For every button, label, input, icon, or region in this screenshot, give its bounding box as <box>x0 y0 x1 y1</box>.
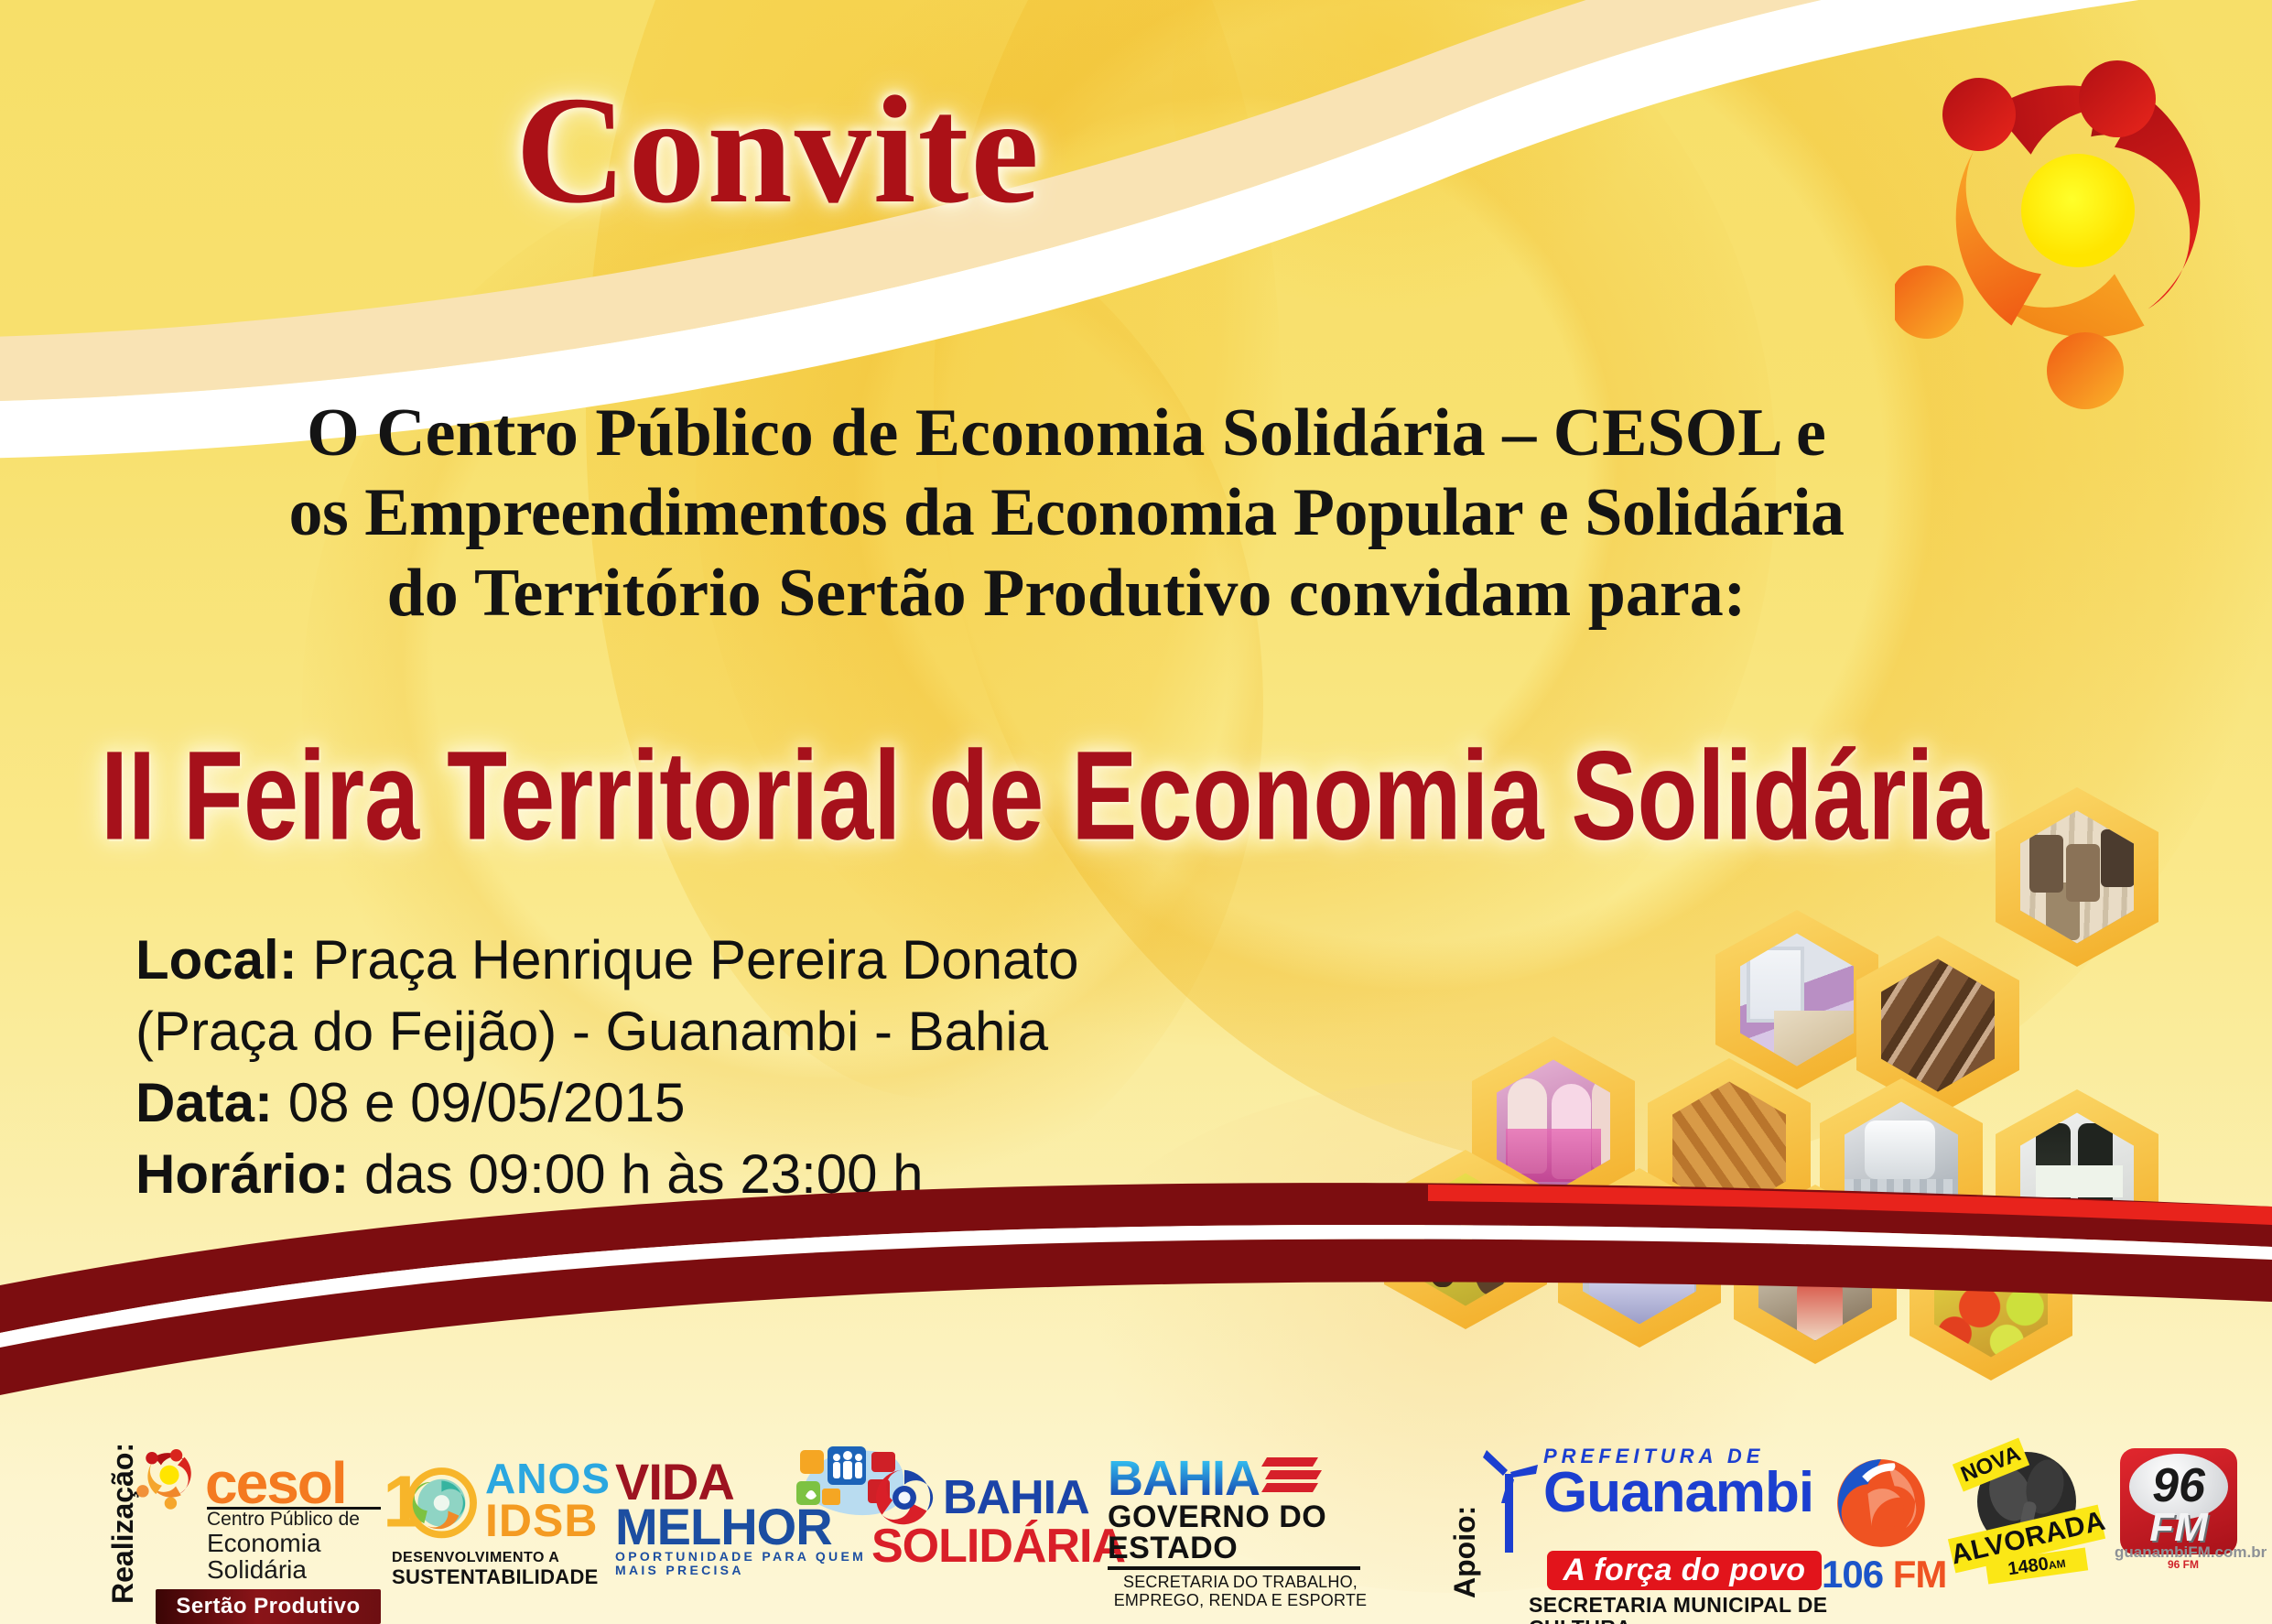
logo-bahia-governo-estado[interactable]: BAHIA GOVERNO DO ESTADO SECRETARIA DO TR… <box>1108 1456 1373 1609</box>
data-value: 08 e 09/05/2015 <box>288 1072 686 1133</box>
bahia-governo-divider <box>1108 1566 1360 1570</box>
svg-text:1: 1 <box>384 1461 424 1543</box>
intro-paragraph: O Centro Público de Economia Solidária –… <box>82 394 2050 633</box>
radio-96-tag: 96 FM <box>2115 1558 2252 1571</box>
detail-data: Data: 08 e 09/05/2015 <box>135 1067 1325 1139</box>
bahia-solidaria-line1: BAHIA <box>943 1477 1089 1520</box>
radio-106-text: 106 FM <box>1822 1555 1941 1594</box>
invitation-poster: Convite O Centro Público de Economia Sol… <box>0 0 2272 1624</box>
logo-idsb-10-anos[interactable]: 1 ANOS IDSB DESENVOLVIMENTO A SUST <box>384 1454 641 1587</box>
logo-bahia-solidaria[interactable]: BAHIA SOLIDÁRIA <box>871 1465 1100 1568</box>
hex-cell <box>1856 936 2019 1115</box>
photo-gourd-crafts <box>1409 1173 1523 1305</box>
photo-bedroom-handicraft-display <box>1740 933 1855 1066</box>
logo-prefeitura-guanambi[interactable]: PREFEITURA DE Guanambi A força do povo S… <box>1477 1446 1844 1624</box>
data-label: Data: <box>135 1072 273 1133</box>
guanambi-secretaria-text: SECRETARIA MUNICIPAL DE CULTURA <box>1529 1594 1844 1624</box>
cesol-subtitle-2: Economia Solidária <box>207 1530 383 1584</box>
idsb-sub-2: SUSTENTABILIDADE <box>392 1566 641 1587</box>
radio-106-swirl-icon <box>1832 1456 1931 1551</box>
bahia-governo-sub-2: EMPREGO, RENDA E ESPORTE <box>1108 1591 1373 1609</box>
hex-cell <box>1996 787 2158 967</box>
cesol-subtitle-1: Centro Público de <box>207 1510 383 1530</box>
logo-cesol[interactable]: cesol Centro Público de Economia Solidár… <box>135 1443 383 1624</box>
bahia-governo-wordmark: BAHIA <box>1108 1457 1260 1501</box>
photo-jelly-bottles <box>2020 1112 2135 1245</box>
intro-line-2: os Empreendimentos da Economia Popular e… <box>82 473 2050 553</box>
detail-local: Local: Praça Henrique Pereira Donato <box>135 925 1325 996</box>
hexagon-photo-collage <box>1364 787 2243 1337</box>
idsb-anos-text: ANOS <box>485 1459 611 1499</box>
intro-line-3: do Território Sertão Produtivo convidam … <box>82 554 2050 633</box>
logo-head-circle <box>2079 60 2156 137</box>
cesol-sun-people-icon <box>135 1443 203 1510</box>
footer-logo-strip: Realização: cesol <box>0 1415 2272 1624</box>
detail-horario: Horário: das 09:00 h às 23:00 h <box>135 1139 1325 1210</box>
photo-baked-breads-basket <box>1672 1081 1787 1214</box>
logo-radio-nova-alvorada[interactable]: NOVA ALVORADA 1480AM <box>1953 1445 2100 1582</box>
logo-head-circle <box>1942 78 2016 151</box>
bahia-solidaria-line2: SOLIDÁRIA <box>871 1525 1100 1568</box>
page-title: Convite <box>0 73 1556 227</box>
logo-radio-96-fm[interactable]: 96 FM guanambiFM.com.br 96 FM <box>2115 1448 2252 1576</box>
cesol-wordmark: cesol <box>205 1457 346 1510</box>
bahia-governo-line2: GOVERNO DO ESTADO <box>1108 1501 1373 1564</box>
bahia-flag-stripes-icon <box>1261 1456 1324 1496</box>
photo-pickled-peppers <box>1934 1224 2049 1357</box>
idsb-sigla-text: IDSB <box>485 1499 611 1543</box>
idsb-globe-icon: 1 <box>384 1454 480 1549</box>
logo-vida-melhor[interactable]: VIDA MELHOR OPORTUNIDADE PARA QUEM MAIS … <box>615 1459 890 1577</box>
guanambi-windmill-icon <box>1477 1446 1542 1553</box>
photo-jars-of-preserves <box>2020 810 2135 943</box>
cesol-sun-people-logo <box>1895 27 2261 412</box>
photo-cassava-roots <box>1881 958 1996 1091</box>
photo-seamstress-working <box>1583 1191 1697 1324</box>
vida-melhor-tagline: OPORTUNIDADE PARA QUEM MAIS PRECISA <box>615 1550 890 1578</box>
idsb-sub-1: DESENVOLVIMENTO A <box>392 1551 641 1566</box>
local-value: Praça Henrique Pereira Donato <box>312 929 1078 991</box>
logo-head-circle <box>2047 332 2124 409</box>
event-details: Local: Praça Henrique Pereira Donato (Pr… <box>135 925 1325 1210</box>
detail-local-line2: (Praça do Feijão) - Guanambi - Bahia <box>135 996 1325 1067</box>
photo-flower-doll-arrangement <box>1758 1207 1873 1340</box>
logo-radio-106-fm[interactable]: 106 FM <box>1822 1456 1941 1594</box>
guanambi-slogan-band: A força do povo <box>1547 1551 1822 1590</box>
photo-fabric-dolls <box>1497 1059 1611 1192</box>
horario-value: das 09:00 h às 23:00 h <box>364 1143 924 1205</box>
local-label: Local: <box>135 929 298 991</box>
intro-line-1: O Centro Público de Economia Solidária –… <box>82 394 2050 473</box>
hex-cell <box>1715 910 1878 1089</box>
bahia-governo-sub-1: SECRETARIA DO TRABALHO, <box>1108 1573 1373 1591</box>
cesol-territory-band: Sertão Produtivo <box>156 1589 381 1624</box>
logo-head-circle <box>1895 265 1964 339</box>
horario-label: Horário: <box>135 1143 349 1205</box>
guanambi-wordmark: Guanambi <box>1543 1467 1813 1519</box>
